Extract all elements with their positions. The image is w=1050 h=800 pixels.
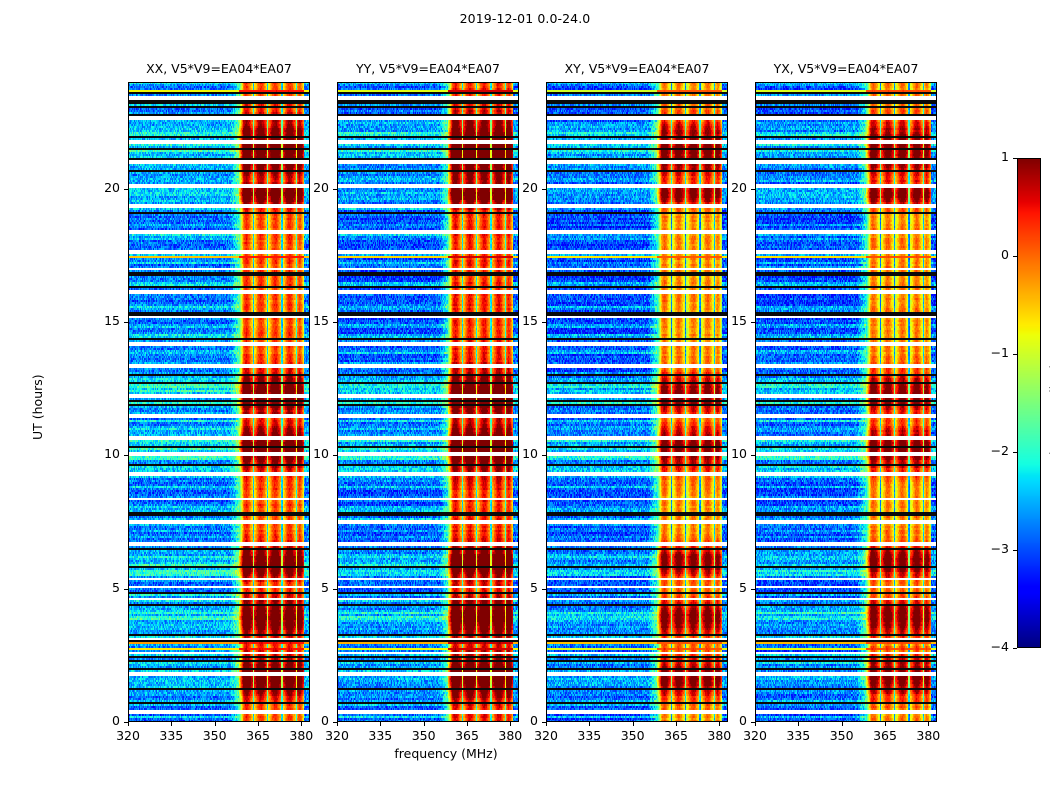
x-tick-mark	[128, 722, 129, 726]
y-tick-mark	[333, 455, 337, 456]
x-tick-label: 380	[281, 728, 321, 743]
x-tick-label: 335	[151, 728, 191, 743]
y-tick-label: 10	[289, 446, 329, 461]
x-tick-label: 350	[613, 728, 653, 743]
waterfall-panel-yx: YX, V5*V9=EA04*EA07	[755, 82, 937, 722]
y-tick-label: 20	[289, 180, 329, 195]
x-tick-mark	[171, 722, 172, 726]
x-tick-mark	[676, 722, 677, 726]
y-tick-mark	[751, 322, 755, 323]
y-tick-mark	[751, 722, 755, 723]
x-tick-mark	[467, 722, 468, 726]
colorbar-tick-mark	[1013, 256, 1017, 257]
waterfall-panel-xx: XX, V5*V9=EA04*EA07	[128, 82, 310, 722]
y-tick-label: 10	[707, 446, 747, 461]
x-tick-label: 350	[404, 728, 444, 743]
y-tick-label: 0	[289, 713, 329, 728]
panel-title-xy: XY, V5*V9=EA04*EA07	[546, 61, 728, 76]
y-tick-label: 5	[289, 580, 329, 595]
panel-title-yx: YX, V5*V9=EA04*EA07	[755, 61, 937, 76]
y-tick-label: 20	[707, 180, 747, 195]
y-tick-label: 5	[498, 580, 538, 595]
colorbar-tick-label: −3	[975, 541, 1009, 556]
x-tick-label: 335	[360, 728, 400, 743]
y-tick-mark	[542, 189, 546, 190]
y-tick-mark	[542, 722, 546, 723]
x-tick-label: 320	[735, 728, 775, 743]
colorbar-tick-label: −1	[975, 345, 1009, 360]
x-tick-mark	[258, 722, 259, 726]
colorbar	[1017, 158, 1041, 648]
y-tick-label: 5	[80, 580, 120, 595]
y-tick-mark	[124, 455, 128, 456]
x-tick-label: 335	[778, 728, 818, 743]
x-tick-label: 350	[195, 728, 235, 743]
x-tick-mark	[798, 722, 799, 726]
y-tick-label: 0	[498, 713, 538, 728]
waterfall-panel-xy: XY, V5*V9=EA04*EA07	[546, 82, 728, 722]
colorbar-gradient	[1017, 158, 1041, 648]
y-tick-label: 0	[707, 713, 747, 728]
x-tick-label: 380	[699, 728, 739, 743]
y-tick-mark	[333, 322, 337, 323]
y-tick-label: 20	[80, 180, 120, 195]
waterfall-image-xx	[128, 82, 310, 722]
y-tick-mark	[542, 322, 546, 323]
x-tick-label: 350	[822, 728, 862, 743]
x-tick-label: 320	[108, 728, 148, 743]
y-axis-label: UT (hours)	[30, 374, 45, 440]
y-tick-label: 10	[80, 446, 120, 461]
x-tick-label: 320	[317, 728, 357, 743]
y-tick-mark	[751, 189, 755, 190]
x-tick-mark	[885, 722, 886, 726]
y-tick-label: 15	[289, 313, 329, 328]
x-tick-label: 320	[526, 728, 566, 743]
waterfall-panel-yy: YY, V5*V9=EA04*EA07	[337, 82, 519, 722]
y-tick-label: 10	[498, 446, 538, 461]
x-tick-label: 365	[447, 728, 487, 743]
x-tick-mark	[842, 722, 843, 726]
y-tick-label: 0	[80, 713, 120, 728]
colorbar-tick-mark	[1013, 354, 1017, 355]
waterfall-image-xy	[546, 82, 728, 722]
colorbar-tick-mark	[1013, 648, 1017, 649]
x-tick-label: 365	[656, 728, 696, 743]
x-tick-mark	[755, 722, 756, 726]
y-tick-mark	[542, 589, 546, 590]
waterfall-image-yy	[337, 82, 519, 722]
colorbar-tick-mark	[1013, 452, 1017, 453]
colorbar-tick-mark	[1013, 158, 1017, 159]
x-tick-mark	[928, 722, 929, 726]
x-tick-mark	[424, 722, 425, 726]
y-tick-label: 20	[498, 180, 538, 195]
colorbar-tick-label: −2	[975, 443, 1009, 458]
x-tick-label: 380	[490, 728, 530, 743]
figure-canvas: 2019-12-01 0.0-24.0 XX, V5*V9=EA04*EA07Y…	[0, 0, 1050, 800]
x-tick-label: 335	[569, 728, 609, 743]
x-axis-label: frequency (MHz)	[296, 746, 596, 761]
panel-title-xx: XX, V5*V9=EA04*EA07	[128, 61, 310, 76]
y-tick-mark	[124, 189, 128, 190]
x-tick-mark	[589, 722, 590, 726]
y-tick-mark	[333, 722, 337, 723]
y-tick-mark	[333, 189, 337, 190]
y-tick-label: 15	[707, 313, 747, 328]
waterfall-image-yx	[755, 82, 937, 722]
y-tick-mark	[124, 722, 128, 723]
x-tick-mark	[337, 722, 338, 726]
x-tick-label: 380	[908, 728, 948, 743]
y-tick-mark	[124, 322, 128, 323]
colorbar-tick-label: 1	[975, 149, 1009, 164]
x-tick-label: 365	[865, 728, 905, 743]
colorbar-tick-label: −4	[975, 639, 1009, 654]
x-tick-mark	[546, 722, 547, 726]
x-tick-label: 365	[238, 728, 278, 743]
x-tick-mark	[380, 722, 381, 726]
x-tick-mark	[215, 722, 216, 726]
y-tick-mark	[751, 455, 755, 456]
y-tick-mark	[542, 455, 546, 456]
y-tick-label: 5	[707, 580, 747, 595]
colorbar-tick-mark	[1013, 550, 1017, 551]
figure-suptitle: 2019-12-01 0.0-24.0	[0, 11, 1050, 26]
panel-title-yy: YY, V5*V9=EA04*EA07	[337, 61, 519, 76]
colorbar-tick-label: 0	[975, 247, 1009, 262]
y-tick-label: 15	[80, 313, 120, 328]
y-tick-mark	[751, 589, 755, 590]
y-tick-mark	[124, 589, 128, 590]
y-tick-mark	[333, 589, 337, 590]
y-tick-label: 15	[498, 313, 538, 328]
x-tick-mark	[633, 722, 634, 726]
